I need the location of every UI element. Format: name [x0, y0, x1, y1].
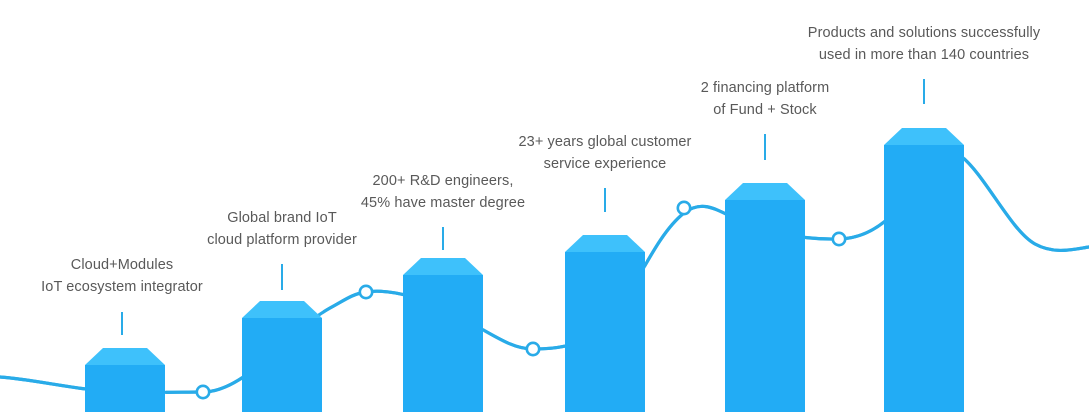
bar-label-3-line-2: 45% have master degree: [361, 192, 525, 214]
bar-label-4-line-2: service experience: [519, 153, 692, 175]
bar-front-face-5: [725, 200, 805, 412]
bar-top-cap-6: [884, 128, 964, 145]
bar-top-cap-3: [403, 258, 483, 275]
bar-front-face-6: [884, 145, 964, 412]
bar-front-face-1: [85, 365, 165, 412]
bar-top-cap-1: [85, 348, 165, 365]
bar-front-face-3: [403, 275, 483, 412]
bar-front-face-2: [242, 318, 322, 412]
bar-label-3: 200+ R&D engineers,45% have master degre…: [361, 170, 525, 214]
bar-top-cap-5: [725, 183, 805, 200]
bar-label-1-line-1: Cloud+Modules: [41, 254, 203, 276]
bar-label-5: 2 financing platformof Fund + Stock: [701, 77, 830, 121]
bar-5[interactable]: [725, 183, 805, 412]
bar-label-2: Global brand IoTcloud platform provider: [207, 207, 357, 251]
curve-marker-1[interactable]: [197, 386, 209, 398]
bar-label-5-line-2: of Fund + Stock: [701, 99, 830, 121]
bar-label-6-line-2: used in more than 140 countries: [808, 44, 1040, 66]
bar-label-4-line-1: 23+ years global customer: [519, 131, 692, 153]
curve-marker-5[interactable]: [833, 233, 845, 245]
bar-1[interactable]: [85, 348, 165, 412]
bar-label-4: 23+ years global customerservice experie…: [519, 131, 692, 175]
bar-4[interactable]: [565, 235, 645, 412]
bar-front-face-4: [565, 252, 645, 412]
bar-label-5-line-1: 2 financing platform: [701, 77, 830, 99]
bar-3[interactable]: [403, 258, 483, 412]
bar-label-1-line-2: IoT ecosystem integrator: [41, 276, 203, 298]
bar-label-6-line-1: Products and solutions successfully: [808, 22, 1040, 44]
curve-marker-2[interactable]: [360, 286, 372, 298]
bar-label-2-line-2: cloud platform provider: [207, 229, 357, 251]
bar-top-cap-4: [565, 235, 645, 252]
bar-label-3-line-1: 200+ R&D engineers,: [361, 170, 525, 192]
bar-label-1: Cloud+ModulesIoT ecosystem integrator: [41, 254, 203, 298]
bar-label-6: Products and solutions successfullyused …: [808, 22, 1040, 66]
bar-6[interactable]: [884, 128, 964, 412]
bar-top-cap-2: [242, 301, 322, 318]
bar-2[interactable]: [242, 301, 322, 412]
curve-marker-4[interactable]: [678, 202, 690, 214]
curve-marker-3[interactable]: [527, 343, 539, 355]
bar-label-2-line-1: Global brand IoT: [207, 207, 357, 229]
infographic-canvas: Cloud+ModulesIoT ecosystem integratorGlo…: [0, 0, 1089, 412]
